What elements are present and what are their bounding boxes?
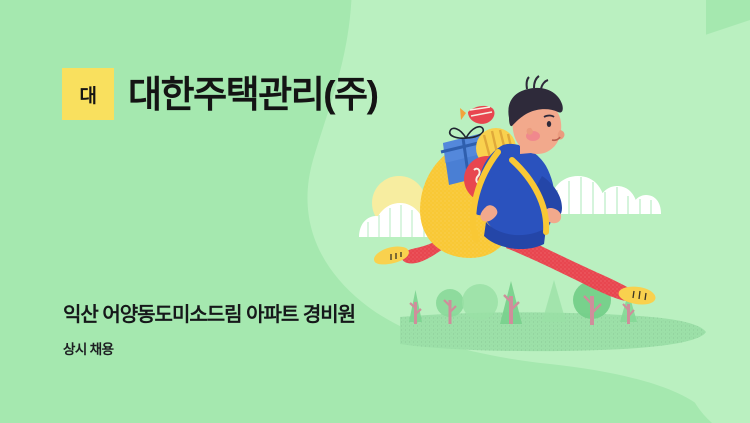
company-header: 대 대한주택관리(주): [62, 68, 377, 120]
company-name: 대한주택관리(주): [128, 76, 377, 113]
job-title: 익산 어양동도미소드림 아파트 경비원: [63, 303, 355, 328]
illustration-canvas: [0, 0, 750, 423]
job-posting-card: 대 대한주택관리(주) 익산 어양동도미소드림 아파트 경비원 상시 채용: [0, 0, 750, 423]
job-status-label: 상시 채용: [63, 338, 355, 358]
company-logo-badge: 대: [62, 68, 114, 120]
eye: [547, 121, 551, 127]
job-info-block: 익산 어양동도미소드림 아파트 경비원 상시 채용: [63, 303, 355, 358]
tree-round-pale: [462, 284, 498, 320]
